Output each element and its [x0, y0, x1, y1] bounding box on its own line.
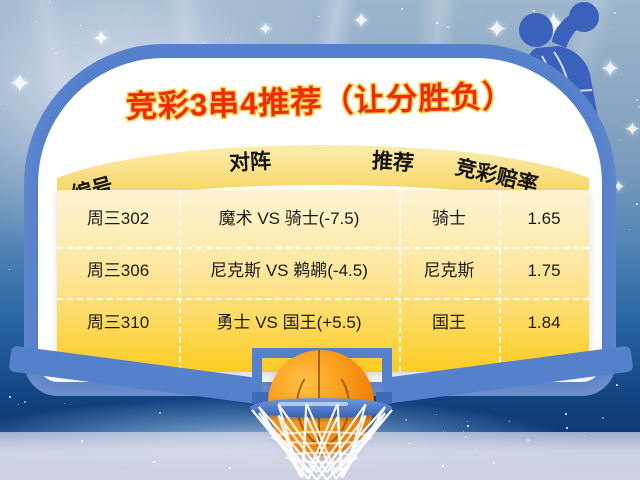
cell-odds: 1.84 [499, 300, 589, 346]
recommendation-table: 周三302 魔术 VS 骑士(-7.5) 骑士 1.65 周三306 尼克斯 V… [57, 190, 589, 372]
table-row[interactable]: 周三306 尼克斯 VS 鹈鹕(-4.5) 尼克斯 1.75 [57, 248, 589, 294]
cell-pick: 骑士 [399, 196, 499, 242]
cell-odds: 1.75 [499, 248, 589, 294]
basketball-net-icon [248, 404, 396, 480]
column-header-pick: 推荐 [371, 145, 415, 178]
cell-matchup: 勇士 VS 国王(+5.5) [179, 300, 399, 346]
cell-odds: 1.65 [499, 196, 589, 242]
cell-code: 周三310 [57, 300, 179, 346]
cell-pick: 尼克斯 [399, 248, 499, 294]
cell-matchup: 魔术 VS 骑士(-7.5) [179, 196, 399, 242]
poster-canvas: ✦✦✦✦✦✦✦✦✦✦✦✦✦✦✦✦✦ 竞彩3串4推荐（让分胜负） [0, 0, 640, 480]
cell-matchup: 尼克斯 VS 鹈鹕(-4.5) [179, 248, 399, 294]
column-header-matchup: 对阵 [228, 145, 272, 177]
table-row[interactable]: 周三302 魔术 VS 骑士(-7.5) 骑士 1.65 [57, 196, 589, 242]
cell-code: 周三302 [57, 196, 179, 242]
cell-code: 周三306 [57, 248, 179, 294]
cell-pick: 国王 [399, 300, 499, 346]
table-row[interactable]: 周三310 勇士 VS 国王(+5.5) 国王 1.84 [57, 300, 589, 346]
